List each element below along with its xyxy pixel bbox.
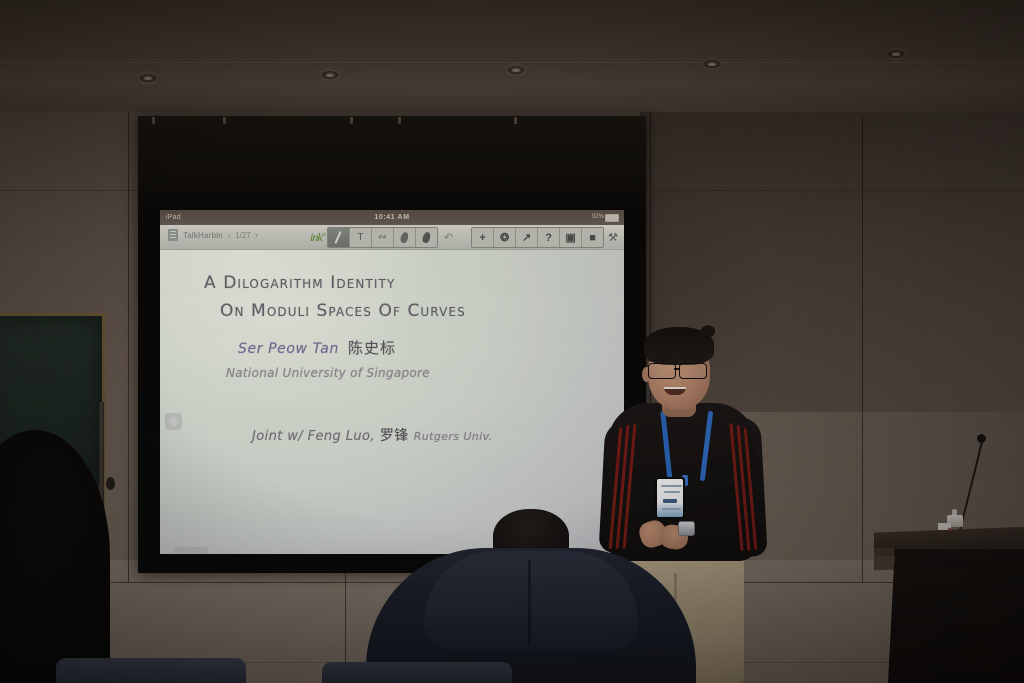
share-icon[interactable]: ↗ [516,228,538,247]
tool-palette: T ∾ [327,227,438,248]
eraser-tool[interactable] [394,228,416,247]
screen-clip-1 [152,117,155,124]
ceiling [0,0,1024,118]
lanyard-strap-right [700,411,713,481]
battery-icon [605,214,619,222]
text-tool[interactable]: T [350,228,372,247]
settings-icon[interactable]: ⚒ [608,231,618,244]
lectern-side-edge [874,548,894,571]
ceiling-light-2 [322,71,338,79]
ipad-app-toolbar: TalkHarbin ‹ 1/27 › ink1.8 T ∾ [160,225,624,250]
hood-seam [528,560,531,646]
projected-ipad-screen: iPad 10:41 AM 92% TalkHarbin ‹ 1/27 › [160,210,624,554]
next-page-icon[interactable]: › [255,230,258,241]
toolbar-right-group: + ❂ ↗ ? ▣ ■ ⚒ [471,227,618,248]
image-icon[interactable]: ▣ [560,228,582,247]
ceiling-light-1 [140,74,156,82]
prev-page-icon[interactable]: ‹ [228,230,231,241]
ceiling-light-5 [888,50,904,58]
wall-seam-v-4 [862,116,863,582]
lanyard-strap-left [660,411,672,483]
slide-author-latin: Ser Peow Tan [238,341,339,357]
slide-canvas[interactable]: A Dilogarithm Identity On Moduli Spaces … [160,249,624,554]
presentation-icon[interactable]: ■ [582,228,603,247]
slide-title-line-1: A Dilogarithm Identity [204,273,395,293]
badge-text-line-4 [662,508,681,510]
app-version-label: 1.8 [322,233,325,238]
laser-pointer-icon[interactable]: ❂ [494,228,516,247]
badge-name-block [663,499,677,503]
slide-joint-work: Joint w/ Feng Luo,罗锋Rutgers Univ. [252,425,493,445]
document-name-label[interactable]: TalkHarbin [183,231,223,240]
chair-left [56,658,246,683]
chair-right [322,662,512,683]
ipad-status-bar: iPad 10:41 AM 92% [160,210,624,225]
ceiling-seam [0,62,1024,63]
desk-object-marker [948,528,951,531]
screen-clip-5 [514,117,517,124]
wristwatch [678,521,695,536]
audience-member-hood [424,551,638,651]
conference-badge [655,477,685,519]
toolbar-left-group: TalkHarbin ‹ 1/27 › [168,229,258,241]
microphone-icon [977,434,986,443]
document-icon[interactable] [168,229,178,241]
ceiling-light-3 [508,66,524,74]
slide-author: Ser Peow Tan陈史标 [238,337,396,358]
badge-card [657,479,683,517]
slide-joint-chinese: 罗锋 [380,428,409,444]
page-indicator-label: 1/27 [235,231,251,240]
screen-clip-2 [223,117,226,124]
status-battery-percent: 92% [592,210,604,225]
slide-author-chinese: 陈史标 [348,339,396,357]
app-logo: ink1.8 [310,230,325,245]
slide-affiliation: National University of Singapore [226,366,430,380]
pen-tool[interactable] [328,228,350,247]
undo-icon[interactable]: ↶ [444,231,453,244]
wall-seam-v-1 [128,112,129,582]
ceiling-light-4 [704,60,720,68]
chalkboard-stand-knob [106,477,115,490]
canvas-bottom-handle[interactable] [174,547,208,554]
screen-clip-4 [398,117,401,124]
lectern [888,549,1024,683]
lasso-tool[interactable]: ∾ [372,228,394,247]
highlighter-tool[interactable] [416,228,437,247]
badge-text-line-1 [661,485,682,487]
status-clock: 10:41 AM [160,210,624,225]
badge-text-line-2 [664,491,680,493]
lecture-hall-photo: iPad 10:41 AM 92% TalkHarbin ‹ 1/27 › [0,0,1024,683]
slide-joint-suffix: Rutgers Univ. [414,430,493,443]
canvas-corner-control[interactable] [165,413,182,430]
action-palette: + ❂ ↗ ? ▣ ■ [471,227,604,248]
eyeglass-lens-right [679,363,707,379]
projection-screen: iPad 10:41 AM 92% TalkHarbin ‹ 1/27 › [138,116,646,573]
slide-title-line-2: On Moduli Spaces Of Curves [220,301,466,321]
eyeglasses-icon [646,363,712,378]
page-navigator: ‹ 1/27 › [228,230,258,241]
toolbar-tool-group: ink1.8 T ∾ ↶ [310,227,453,248]
screen-blank-area [138,116,646,208]
eyeglass-lens-left [648,363,676,379]
screen-clip-3 [350,117,353,124]
add-page-icon[interactable]: + [472,228,494,247]
slide-joint-prefix: Joint w/ Feng Luo, [252,429,375,444]
help-icon[interactable]: ? [538,228,560,247]
